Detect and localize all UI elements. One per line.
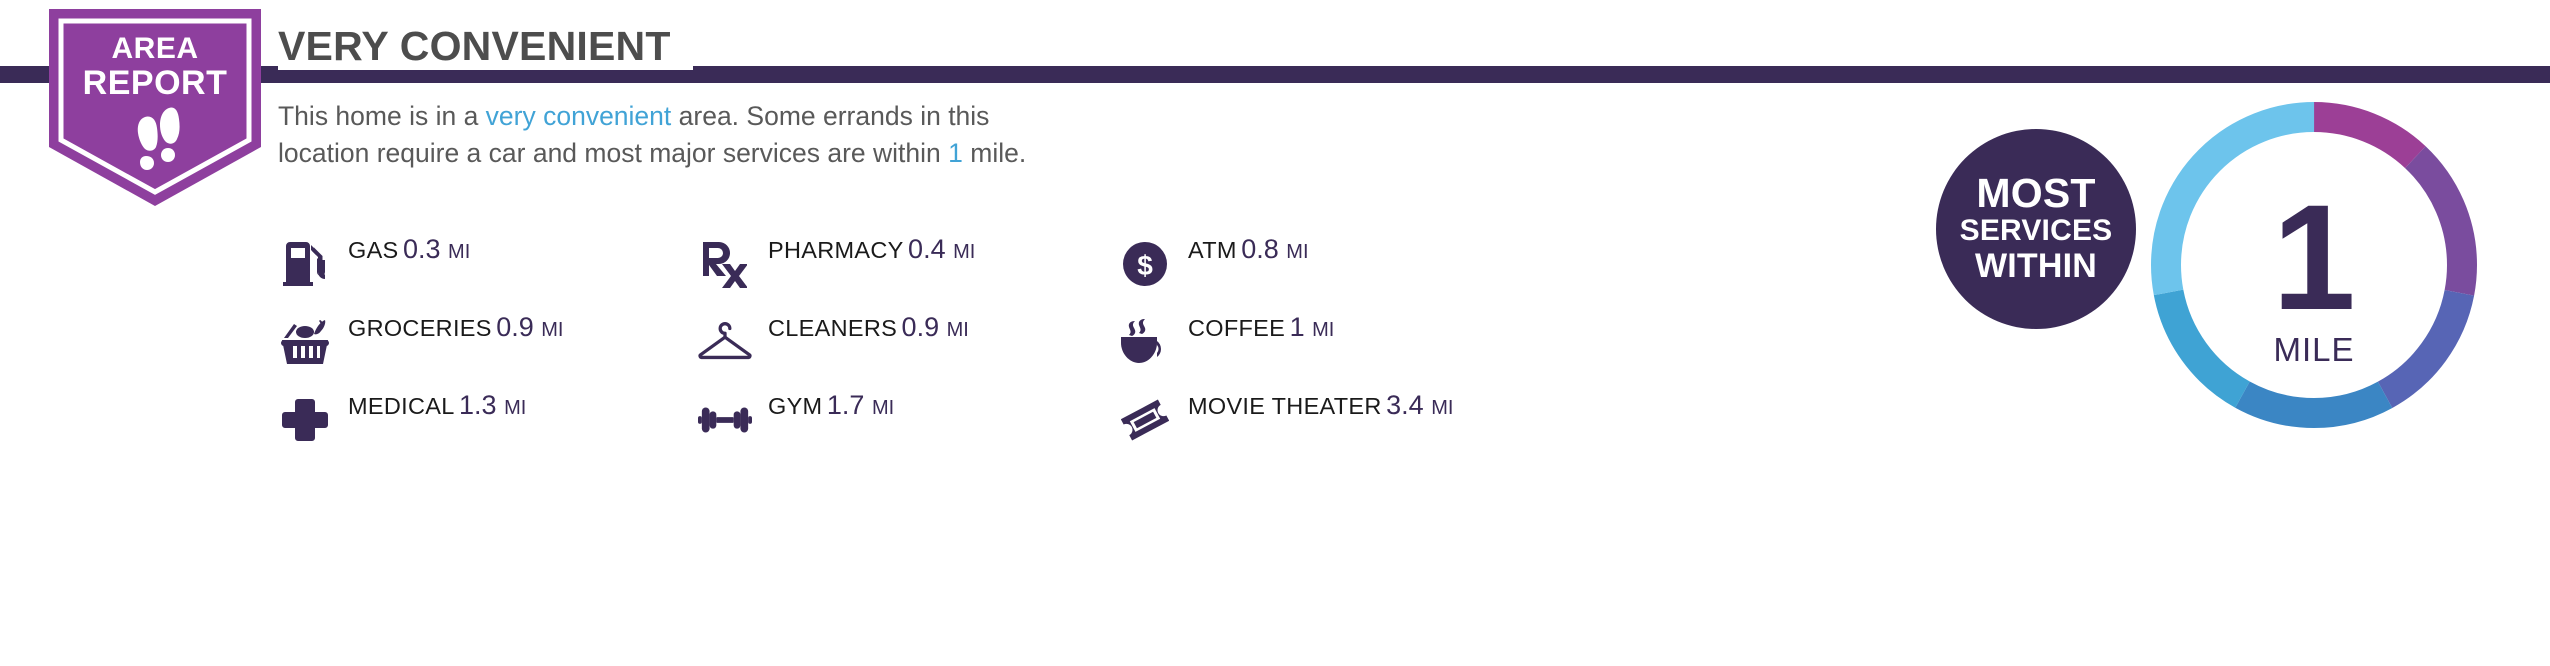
headline-row: VERY CONVENIENT [278,22,693,70]
badge-line-1: AREA [111,32,198,65]
medical-cross-icon [278,394,332,446]
coffee-cup-icon [1118,316,1172,368]
service-distance-unit: MI [953,241,975,263]
service-distance-unit: MI [448,241,470,263]
service-distance-unit: MI [947,319,969,341]
service-distance-unit: MI [1312,319,1334,341]
dollar-circle-icon: $ [1118,238,1172,290]
service-item-coffee: COFFEE 1 MI [1118,312,1578,390]
service-distance-value: 3.4 [1386,390,1424,420]
service-distance-value: 1.7 [827,390,865,420]
service-body: COFFEE 1 MI [1188,312,1334,342]
service-label: MEDICAL [348,393,455,419]
service-body: MEDICAL 1.3 MI [348,390,526,420]
service-distance-value: 0.4 [908,234,946,264]
description-highlight-distance: 1 [948,138,963,168]
clothes-hanger-icon [698,316,752,368]
service-distance-unit: MI [541,319,563,341]
service-distance-unit: MI [504,397,526,419]
area-report-infographic: AREA REPORT VERY CONVENIENT This home is… [0,0,2550,666]
service-body: CLEANERS 0.9 MI [768,312,969,342]
most-services-within-bubble: MOST SERVICES WITHIN [1936,129,2136,329]
badge-line-2: REPORT [45,65,265,102]
service-body: GAS 0.3 MI [348,234,470,264]
service-body: PHARMACY 0.4 MI [768,234,975,264]
service-item-cleaners: CLEANERS 0.9 MI [698,312,1118,390]
service-body: GYM 1.7 MI [768,390,894,420]
description-part-3: mile. [963,138,1026,168]
service-body: MOVIE THEATER 3.4 MI [1188,390,1453,420]
service-distance-unit: MI [872,397,894,419]
service-distance-value: 0.3 [403,234,441,264]
service-label: GROCERIES [348,315,492,341]
movie-ticket-icon [1118,394,1172,446]
service-distance: 3.4 MI [1386,390,1453,420]
service-item-gas: GAS 0.3 MI [278,234,698,312]
service-distance: 0.8 MI [1241,234,1308,264]
service-body: GROCERIES 0.9 MI [348,312,563,342]
service-label: CLEANERS [768,315,897,341]
service-label: ATM [1188,237,1237,263]
service-distance: 1.7 MI [827,390,894,420]
service-label: GYM [768,393,822,419]
service-distance-value: 1 [1290,312,1305,342]
description-part-1: This home is in a [278,101,486,131]
bubble-line-2: SERVICES [1960,214,2113,248]
service-label: COFFEE [1188,315,1285,341]
service-item-gym: GYM 1.7 MI [698,390,1118,468]
service-distance-value: 1.3 [459,390,497,420]
service-distance-value: 0.9 [902,312,940,342]
service-label: MOVIE THEATER [1188,393,1382,419]
service-distance-value: 0.8 [1241,234,1279,264]
service-label: PHARMACY [768,237,904,263]
service-distance-unit: MI [1431,397,1453,419]
service-item-pharmacy: PHARMACY 0.4 MI [698,234,1118,312]
bubble-line-3: WITHIN [1975,248,2097,285]
service-distance: 0.3 MI [403,234,470,264]
svg-text:$: $ [1137,250,1153,281]
services-donut-chart [2143,94,2485,436]
service-distance: 1 MI [1290,312,1335,342]
service-distance: 0.4 MI [908,234,975,264]
service-distance-unit: MI [1286,241,1308,263]
area-report-badge: AREA REPORT [45,5,265,210]
service-body: ATM 0.8 MI [1188,234,1309,264]
service-item-atm: $ ATM 0.8 MI [1118,234,1578,312]
service-distance: 1.3 MI [459,390,526,420]
service-distance-value: 0.9 [496,312,534,342]
services-grid: GAS 0.3 MI PHARMACY 0.4 [278,234,1698,468]
service-label: GAS [348,237,399,263]
badge-label: AREA REPORT [45,33,265,102]
grocery-basket-icon [278,316,332,368]
service-item-groceries: GROCERIES 0.9 MI [278,312,698,390]
service-distance: 0.9 MI [496,312,563,342]
description-text: This home is in a very convenient area. … [278,98,1078,171]
prescription-icon [698,238,752,290]
gas-pump-icon [278,238,332,290]
description-highlight-rating: very convenient [486,101,672,131]
page-title: VERY CONVENIENT [278,23,693,70]
service-distance: 0.9 MI [902,312,969,342]
dumbbell-icon [698,394,752,446]
service-item-movie-theater: MOVIE THEATER 3.4 MI [1118,390,1578,468]
bubble-line-1: MOST [1976,173,2095,214]
service-item-medical: MEDICAL 1.3 MI [278,390,698,468]
